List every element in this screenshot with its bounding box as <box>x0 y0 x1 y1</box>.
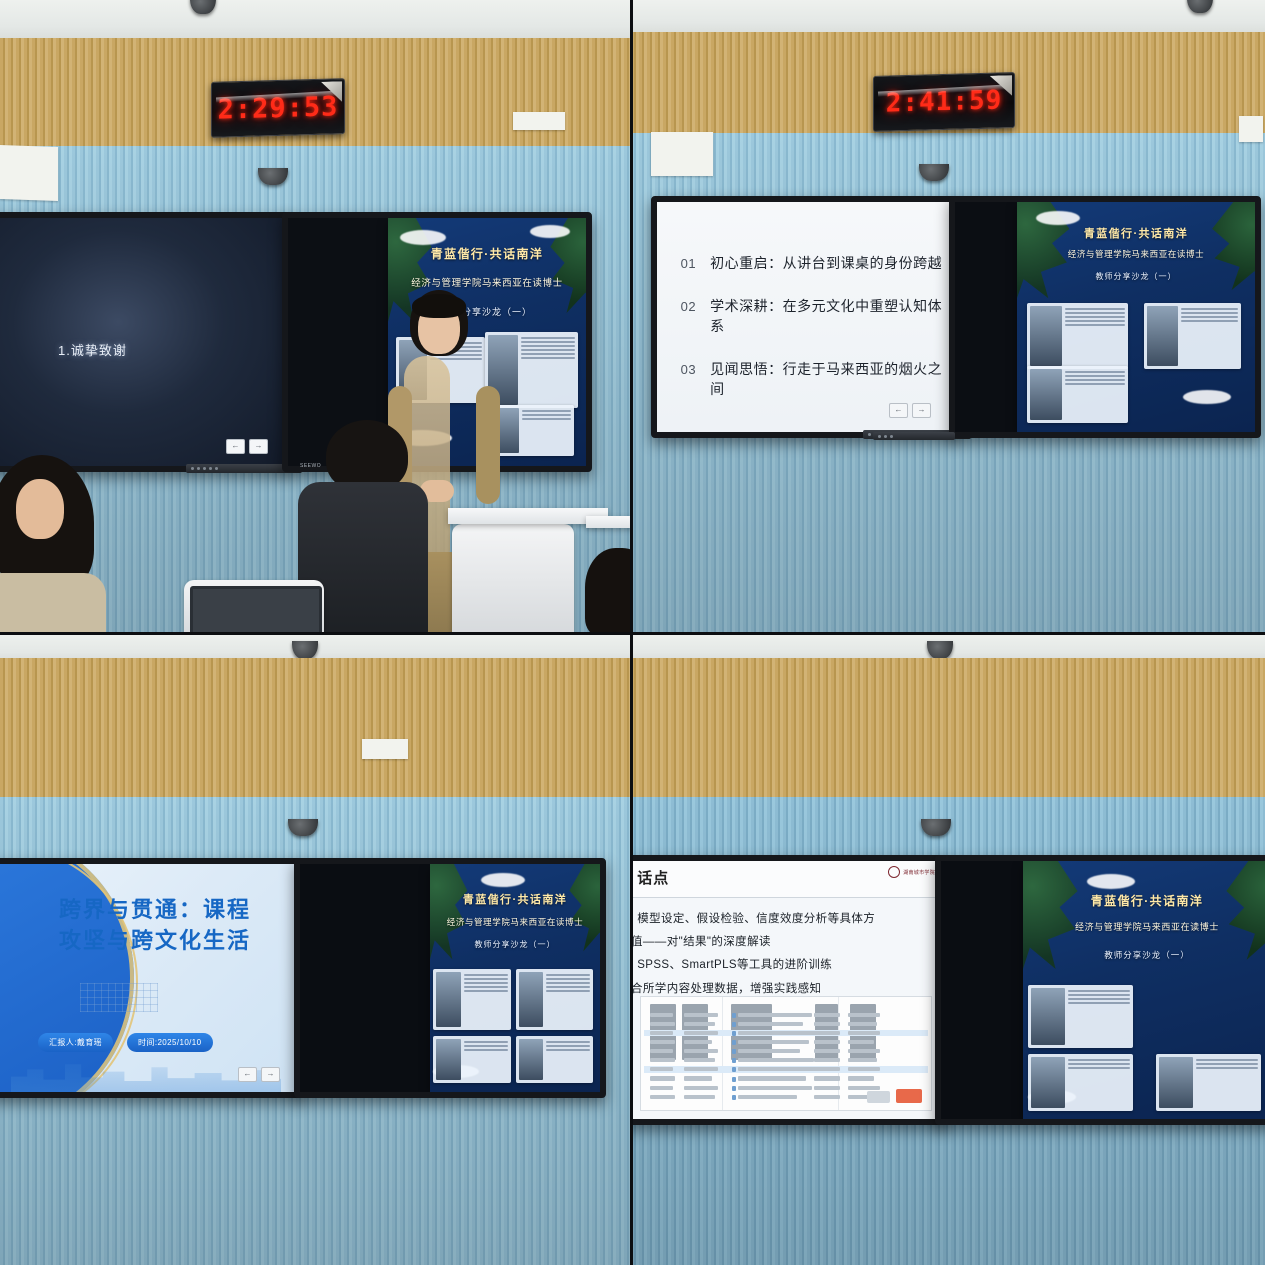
profile-photo <box>519 972 543 1027</box>
poster-cloud-icon <box>1183 390 1231 404</box>
screen-underframe <box>955 433 1255 438</box>
poster-profile-card <box>1027 366 1128 423</box>
poster-display-board: 青蓝偕行·共话南洋 经济与管理学院马来西亚在读博士 教师分享沙龙（一） <box>949 196 1261 438</box>
poster-profile-card <box>433 969 510 1030</box>
screen-underframe <box>300 1093 600 1098</box>
poster-line3: 教师分享沙龙（一） <box>1048 949 1246 961</box>
screenshot-row <box>644 1057 928 1064</box>
profile-photo <box>1031 1057 1065 1109</box>
profile-text <box>1065 369 1125 420</box>
agenda-item: 02 学术深耕：在多元文化中重塑认知体系 <box>681 296 953 336</box>
chair-white <box>452 524 574 633</box>
poster-subtitle: 经济与管理学院马来西亚在读博士 <box>435 916 595 928</box>
panel-bottom-left: 2:55:32 跨界与贯通：课程攻坚与跨文化生活 汇报人:戴育瑶 时间:2025… <box>0 633 631 1265</box>
agenda-item: 03 见闻思悟：行走于马来西亚的烟火之间 <box>681 359 953 399</box>
nav-prev-icon[interactable]: ← <box>238 1067 257 1082</box>
collage-seam-horizontal <box>0 632 1265 635</box>
projection-screen-left: 话点 湖南城市学院 模型设定、假设检验、信度效度分析等具体方 值——对"结果"的… <box>631 855 947 1125</box>
nav-next-icon[interactable]: → <box>249 439 268 454</box>
poster-subtitle: 经济与管理学院马来西亚在读博士 <box>1024 248 1248 260</box>
audience-member-left <box>0 455 110 633</box>
poster-profile-card <box>1027 303 1128 369</box>
screenshot-row <box>644 1084 928 1091</box>
agenda-text: 学术深耕：在多元文化中重塑认知体系 <box>710 296 953 336</box>
screenshot-row <box>644 1075 928 1082</box>
poster-profile-card <box>1144 303 1240 369</box>
slide-nav[interactable]: ← → <box>238 1067 280 1082</box>
led-wall-clock: 2:41:59 <box>873 72 1015 132</box>
poster-profile-card <box>1156 1054 1261 1112</box>
slide-meta-pills: 汇报人:戴育瑶 时间:2025/10/10 <box>38 1033 213 1052</box>
profile-text <box>546 972 590 1027</box>
screenshot-row <box>644 1039 928 1046</box>
poster-title: 青蓝偕行·共话南洋 <box>440 891 590 907</box>
audience-top <box>0 573 106 633</box>
wall-paper-notice-2 <box>1239 116 1263 142</box>
agenda-text: 初心重启：从讲台到课桌的身份跨越 <box>710 253 942 273</box>
embedded-screenshot <box>640 996 931 1112</box>
audience-member-right <box>585 548 631 633</box>
panel-top-right: 2:41:59 01 初心重启：从讲台到课桌的身份跨越 02 学术深耕：在多元文… <box>631 0 1265 633</box>
screenshot-row-selected <box>644 1030 928 1037</box>
screenshot-row-selected <box>644 1066 928 1073</box>
upper-wood-wall <box>631 658 1265 800</box>
slide-nav[interactable]: ← → <box>226 439 268 454</box>
event-poster: 青蓝偕行·共话南洋 经济与管理学院马来西亚在读博士 教师分享沙龙（一） <box>1023 861 1265 1119</box>
event-poster: 青蓝偕行·共话南洋 经济与管理学院马来西亚在读博士 教师分享沙龙（一） <box>430 864 600 1092</box>
title-slide: 跨界与贯通：课程攻坚与跨文化生活 汇报人:戴育瑶 时间:2025/10/10 <box>0 864 296 1092</box>
poster-cloud-icon <box>481 873 525 887</box>
projection-screen-left: 01 初心重启：从讲台到课桌的身份跨越 02 学术深耕：在多元文化中重塑认知体系… <box>651 196 959 438</box>
profile-text <box>522 408 571 453</box>
poster-title: 青蓝偕行·共话南洋 <box>1038 892 1256 909</box>
wall-paper-notice <box>0 145 58 201</box>
poster-title: 青蓝偕行·共话南洋 <box>400 245 574 262</box>
profile-photo <box>1030 369 1062 420</box>
side-table <box>586 516 631 528</box>
date-pill: 时间:2025/10/10 <box>127 1033 212 1052</box>
slide-title: 跨界与贯通：课程攻坚与跨文化生活 <box>56 894 254 956</box>
presenter-arm-right <box>476 386 500 504</box>
profile-text <box>1068 1057 1130 1109</box>
profile-text <box>546 1039 590 1080</box>
slide-text: 1.诚挚致谢 <box>58 340 127 359</box>
profile-photo <box>1031 988 1065 1045</box>
profile-text <box>521 335 576 404</box>
bullet-slide: 话点 湖南城市学院 模型设定、假设检验、信度效度分析等具体方 值——对"结果"的… <box>631 861 941 1119</box>
screen-surface: 1.诚挚致谢 <box>0 218 284 466</box>
agenda-item: 01 初心重启：从讲台到课桌的身份跨越 <box>681 253 953 273</box>
logo-text: 湖南城市学院 <box>903 869 935 876</box>
screen-underframe <box>631 1120 941 1125</box>
profile-photo <box>1159 1057 1193 1109</box>
poster-display-board: 青蓝偕行·共话南洋 经济与管理学院马来西亚在读博士 教师分享沙龙（一） <box>935 855 1265 1125</box>
wall-paper-notice <box>651 132 713 176</box>
wall-paper-notice <box>362 739 408 759</box>
slide-bullet: 值——对"结果"的深度解读 <box>631 933 922 949</box>
poster-profile-card <box>1028 985 1133 1048</box>
profile-text <box>464 1039 508 1080</box>
profile-text <box>1068 988 1130 1045</box>
event-poster: 青蓝偕行·共话南洋 经济与管理学院马来西亚在读博士 教师分享沙龙（一） <box>1017 202 1255 432</box>
agenda-number: 02 <box>681 299 696 314</box>
projection-screen-left: 跨界与贯通：课程攻坚与跨文化生活 汇报人:戴育瑶 时间:2025/10/10 ←… <box>0 858 302 1098</box>
screen-surface: 01 初心重启：从讲台到课桌的身份跨越 02 学术深耕：在多元文化中重塑认知体系… <box>657 202 953 432</box>
upper-wood-wall <box>0 658 631 800</box>
screen-underframe <box>0 1093 296 1098</box>
led-wall-clock: 2:29:53 <box>211 78 345 138</box>
slide-title-line1: 跨界与贯通：课程 <box>59 897 251 922</box>
presenter-hair-front <box>412 294 466 318</box>
presenter-pill: 汇报人:戴育瑶 <box>38 1033 113 1052</box>
screenshot-secondary-button[interactable] <box>867 1091 890 1103</box>
profile-photo <box>519 1039 543 1080</box>
poster-profile-card <box>516 969 593 1030</box>
poster-title: 青蓝偕行·共话南洋 <box>1031 225 1240 241</box>
poster-line3: 教师分享沙龙（一） <box>1041 271 1231 282</box>
screenshot-action-button[interactable] <box>896 1089 922 1104</box>
audience-head <box>16 479 64 539</box>
university-logo: 湖南城市学院 <box>888 866 935 878</box>
slide-bullet: 模型设定、假设检验、信度效度分析等具体方 <box>637 910 922 926</box>
poster-line3: 教师分享沙龙（一） <box>447 939 583 950</box>
photo-collage: 2:29:53 1.诚挚致谢 ← → <box>0 0 1265 1265</box>
profile-photo <box>436 1039 460 1080</box>
profile-text <box>1181 306 1238 366</box>
profile-text <box>1065 306 1125 366</box>
agenda-list: 01 初心重启：从讲台到课桌的身份跨越 02 学术深耕：在多元文化中重塑认知体系… <box>681 253 953 399</box>
poster-display-board: 青蓝偕行·共话南洋 经济与管理学院马来西亚在读博士 教师分享沙龙（一） <box>294 858 606 1098</box>
slide-bullet: SPSS、SmartPLS等工具的进阶训练 <box>637 956 922 972</box>
poster-cloud-icon <box>1036 211 1080 225</box>
poster-profile-card <box>433 1036 510 1083</box>
agenda-text: 见闻思悟：行走于马来西亚的烟火之间 <box>710 359 953 399</box>
lecture-desk <box>448 508 608 524</box>
screen-underframe <box>941 1120 1265 1125</box>
profile-text <box>1196 1057 1258 1109</box>
panel-top-left: 2:29:53 1.诚挚致谢 ← → <box>0 0 631 633</box>
poster-subtitle: 经济与管理学院马来西亚在读博士 <box>1030 920 1263 933</box>
projection-screen-left: 1.诚挚致谢 ← → <box>0 212 290 472</box>
screenshot-row <box>644 1021 928 1028</box>
poster-surface: 青蓝偕行·共话南洋 经济与管理学院马来西亚在读博士 教师分享沙龙（一） <box>941 861 1265 1119</box>
nav-prev-icon[interactable]: ← <box>226 439 245 454</box>
slide-nav[interactable]: ← → <box>889 403 931 418</box>
poster-control-bar[interactable] <box>873 432 955 440</box>
poster-subtitle: 经济与管理学院马来西亚在读博士 <box>394 275 580 289</box>
poster-profile-card <box>516 1036 593 1083</box>
screenshot-row <box>644 1048 928 1055</box>
slide-title-line2: 攻坚与跨文化生活 <box>59 928 251 953</box>
slide-grid-decoration <box>80 983 158 1013</box>
panel-bottom-right: 3:10:28 话点 湖南城市学院 模型设定、假设检验、信度效度分析等具体方 值… <box>631 633 1265 1265</box>
slide-bullet: 合所学内容处理数据，增强实践感知 <box>631 980 922 996</box>
poster-cloud-icon <box>1087 874 1135 889</box>
audience-hair <box>585 548 631 633</box>
profile-photo <box>1030 306 1062 366</box>
nav-prev-icon[interactable]: ← <box>889 403 908 418</box>
wall-paper-notice-2 <box>513 112 565 130</box>
profile-photo <box>436 972 460 1027</box>
agenda-number: 01 <box>681 256 696 271</box>
nav-next-icon[interactable]: → <box>912 403 931 418</box>
poster-profile-card <box>1028 1054 1133 1112</box>
seal-icon <box>888 866 900 878</box>
agenda-number: 03 <box>681 362 696 377</box>
poster-surface: 青蓝偕行·共话南洋 经济与管理学院马来西亚在读博士 教师分享沙龙（一） <box>300 864 600 1092</box>
screenshot-row <box>644 1012 928 1019</box>
slide-header: 话点 湖南城市学院 <box>631 861 941 898</box>
poster-surface: 青蓝偕行·共话南洋 经济与管理学院马来西亚在读博士 教师分享沙龙（一） <box>955 202 1255 432</box>
profile-text <box>464 972 508 1027</box>
slide-header-text: 话点 <box>637 867 669 888</box>
desk-monitor <box>190 586 322 633</box>
nav-next-icon[interactable]: → <box>261 1067 280 1082</box>
profile-photo <box>1147 306 1178 366</box>
